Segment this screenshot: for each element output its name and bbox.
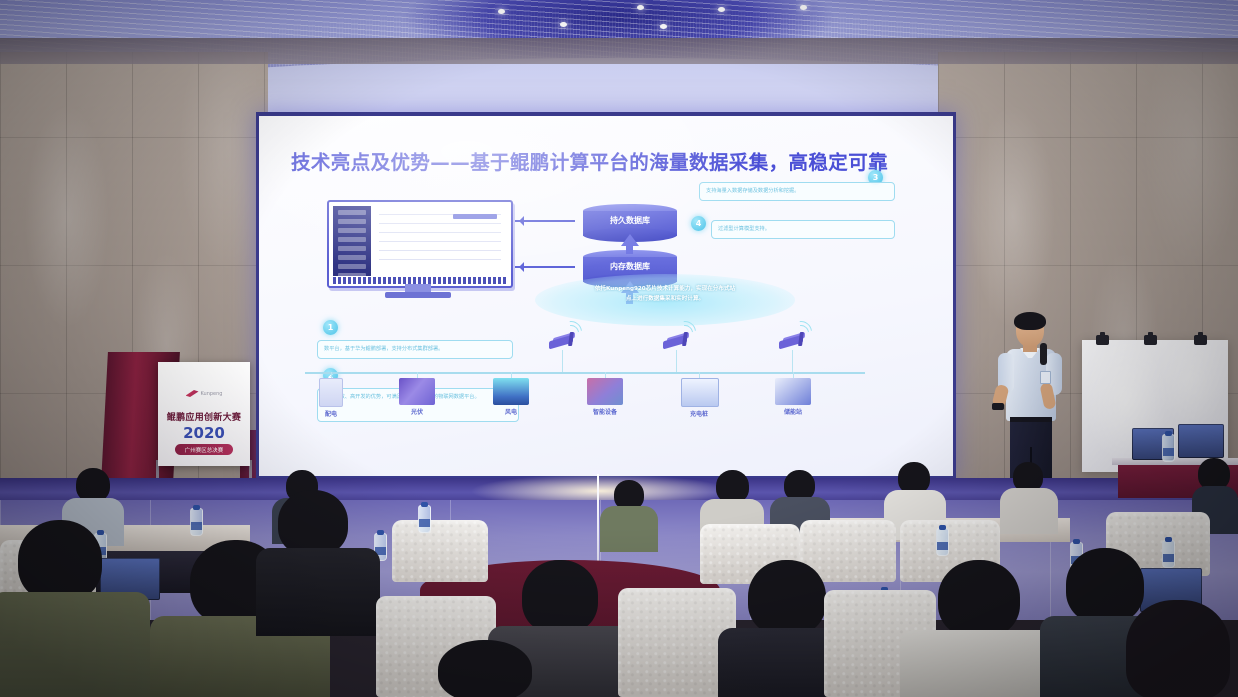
clip-icon <box>1194 335 1207 345</box>
banner-year: 2020 <box>158 424 250 442</box>
presenter-clicker <box>992 403 1004 410</box>
gateway-device <box>779 332 809 352</box>
photo-scene: 技术亮点及优势——基于鲲鹏计算平台的海量数据采集，高稳定可靠 <box>0 0 1238 697</box>
callout-text-1: 数平台，基于华为鲲鹏部署，支持分布式集群部署。 <box>317 340 513 359</box>
laptop <box>1178 424 1224 458</box>
water-bottle <box>418 505 431 533</box>
ceiling-light <box>718 7 725 12</box>
monitor-bottom-bar <box>333 277 507 284</box>
projection-screen: 技术亮点及优势——基于鲲鹏计算平台的海量数据采集，高稳定可靠 <box>256 112 956 480</box>
chair <box>392 520 488 582</box>
callout-badge-1: 1 <box>323 320 338 335</box>
ceiling-light <box>498 9 505 14</box>
audience-person-front <box>1110 600 1238 697</box>
wall-upper-shadow <box>0 38 1238 64</box>
device-item: 风电 <box>493 378 529 416</box>
clip-icon <box>1144 335 1157 345</box>
gateway-device <box>549 332 579 352</box>
flow-arrow-to-monitor <box>515 220 575 222</box>
gateway-device <box>663 332 693 352</box>
monitor-screen <box>327 200 513 288</box>
database-memory-label: 内存数据库 <box>583 261 677 272</box>
monitor-stand-base <box>385 292 451 298</box>
kunpeng-logo: Kunpeng <box>158 390 250 397</box>
ceiling-light <box>560 22 567 27</box>
callout-badge-4: 4 <box>691 216 706 231</box>
database-persistent-label: 持久数据库 <box>583 215 677 226</box>
audience-person-front <box>420 640 550 697</box>
audience-person <box>600 480 658 550</box>
microphone-icon <box>1040 343 1047 365</box>
audience-person <box>1000 462 1058 534</box>
water-bottle <box>1162 434 1175 462</box>
device-item: 智能设备 <box>587 378 623 416</box>
callout-text-3: 支持海量入数据存储及数据分析和挖掘。 <box>699 182 895 201</box>
ceiling-light <box>800 5 807 10</box>
monitor-content <box>373 206 507 276</box>
flow-arrow-to-monitor <box>515 266 575 268</box>
device-item: 充电桩 <box>681 378 717 418</box>
ceiling-light <box>637 5 644 10</box>
ceiling-light <box>660 24 667 29</box>
bus-line <box>305 372 865 374</box>
slide-surface: 技术亮点及优势——基于鲲鹏计算平台的海量数据采集，高稳定可靠 <box>259 116 953 476</box>
clip-icon <box>1096 335 1109 345</box>
water-bottle <box>190 508 203 536</box>
audience-person-front <box>0 520 140 697</box>
monitor-illustration <box>327 200 509 298</box>
slide-title: 技术亮点及优势——基于鲲鹏计算平台的海量数据采集，高稳定可靠 <box>291 146 888 175</box>
device-item: 配电 <box>313 378 349 418</box>
kunpeng-swoosh-icon <box>186 390 199 397</box>
callout-text-4: 过滤型计算模型支持。 <box>711 220 895 239</box>
banner-title: 鲲鹏应用创新大赛 <box>158 410 250 423</box>
banner-subtitle: 广州赛区总决赛 <box>175 444 233 455</box>
device-item: 储能站 <box>775 378 811 416</box>
audience-person-front <box>256 490 376 630</box>
flow-arrow-up <box>621 234 639 246</box>
monitor-sidebar <box>333 206 371 276</box>
device-item: 光伏 <box>399 378 435 416</box>
audience-person-front <box>900 560 1050 697</box>
water-bottle <box>936 528 949 556</box>
presenter-badge <box>1040 371 1051 384</box>
event-banner: Kunpeng 鲲鹏应用创新大赛 2020 广州赛区总决赛 <box>158 362 250 466</box>
cloud-text: 依托Kunpeng920芯片技术计算能力，实现在分布式站 点上进行数据集采和实时… <box>537 284 793 305</box>
